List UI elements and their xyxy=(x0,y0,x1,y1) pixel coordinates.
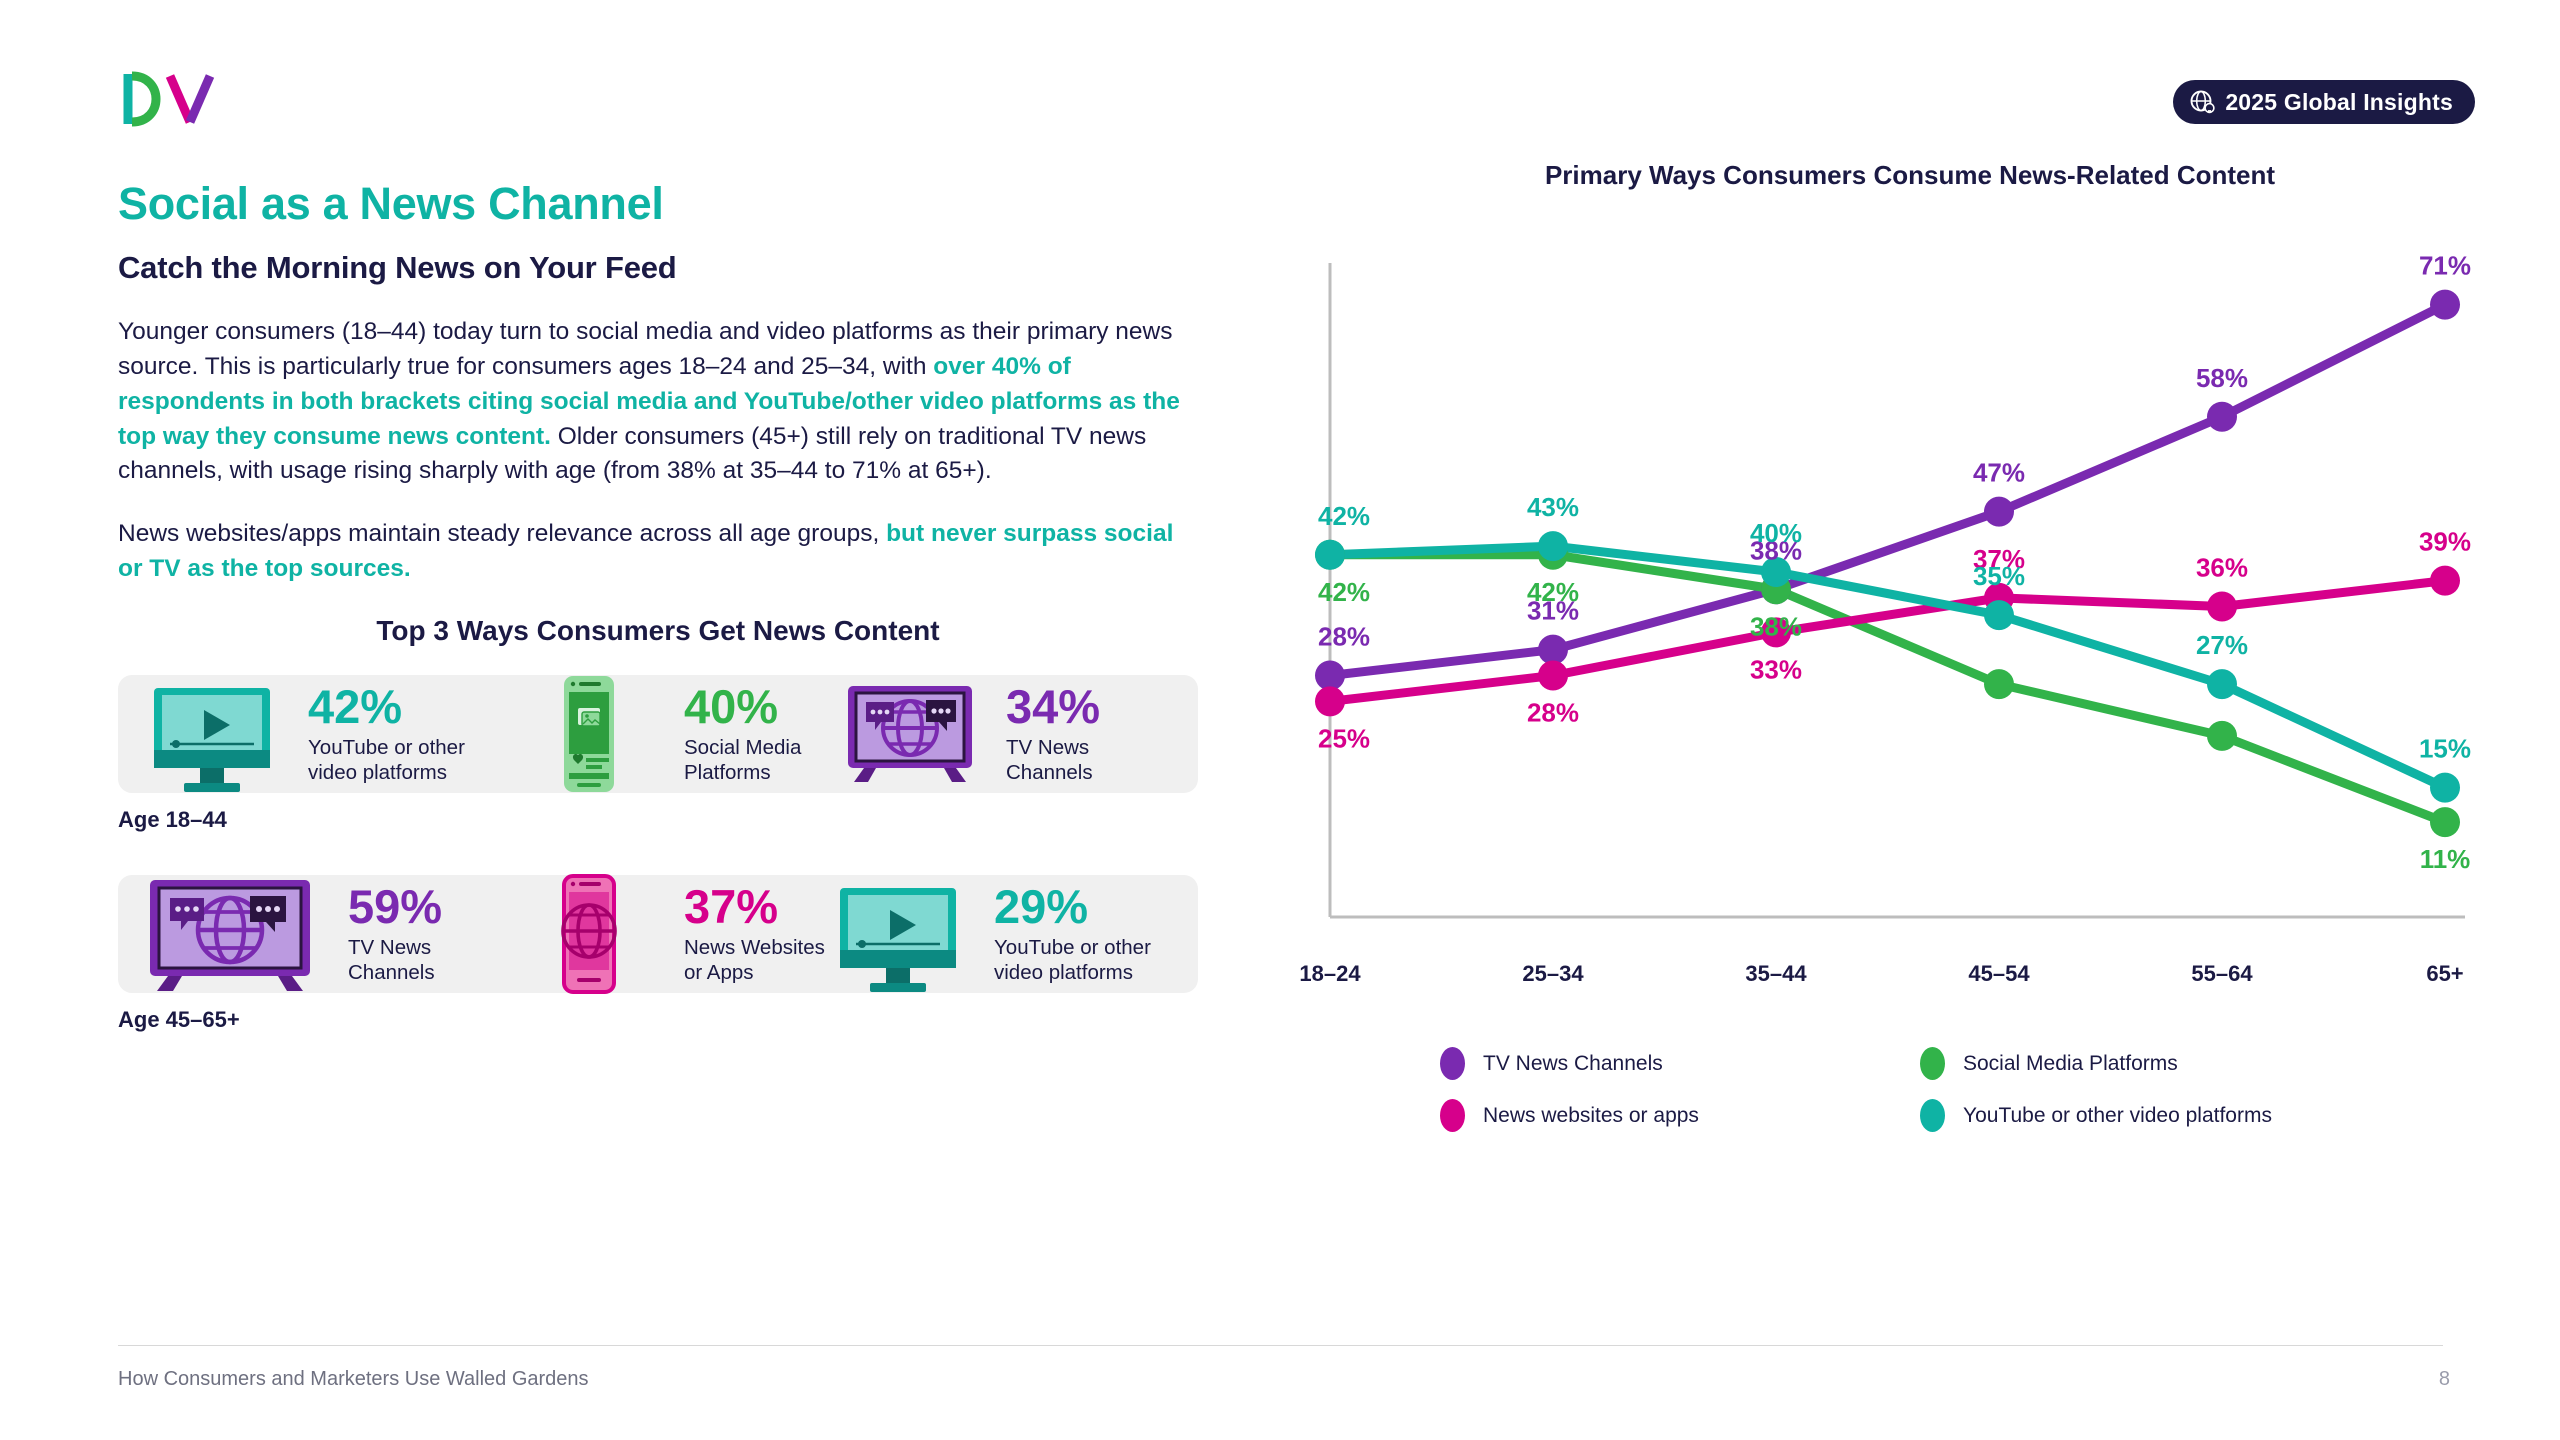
data-point-label: 28% xyxy=(1527,698,1579,728)
stat-card-5: 37% News Websites or Apps xyxy=(508,875,825,993)
monitor-play-icon xyxy=(818,852,978,1012)
data-point-label: 42% xyxy=(1318,577,1370,607)
cards-section-title: Top 3 Ways Consumers Get News Content xyxy=(118,615,1198,647)
legend-label: TV News Channels xyxy=(1483,1052,1663,1076)
data-point xyxy=(1538,635,1568,665)
phone-social-icon xyxy=(508,652,668,812)
paragraph-2: News websites/apps maintain steady relev… xyxy=(118,517,1188,587)
card-row-age-45-65: 59% TV News Channels xyxy=(118,875,1198,993)
legend-label: YouTube or other video platforms xyxy=(1963,1104,2272,1128)
globe-bulb-icon xyxy=(2189,89,2215,115)
stat-card-2-label: Social Media Platforms xyxy=(684,735,801,785)
chart-plot-area: 28%31%38%47%58%71%42%42%38%11%25%28%33%3… xyxy=(1310,197,2480,957)
data-point-label: 38% xyxy=(1750,611,1802,641)
data-point xyxy=(1315,686,1345,716)
legend-swatch-icon xyxy=(1440,1099,1465,1132)
data-point xyxy=(1984,600,2014,630)
x-axis-tick: 18–24 xyxy=(1299,961,1360,987)
data-point-label: 28% xyxy=(1318,622,1370,652)
data-point-label: 39% xyxy=(2419,527,2471,557)
data-point-label: 47% xyxy=(1973,458,2025,488)
stat-card-2-value: 40% xyxy=(684,683,801,730)
monitor-play-icon xyxy=(132,652,292,812)
data-point xyxy=(1538,661,1568,691)
legend-item[interactable]: YouTube or other video platforms xyxy=(1920,1099,2272,1132)
data-point xyxy=(1315,661,1345,691)
dv-logo xyxy=(118,68,228,130)
stat-card-6-label: YouTube or other video platforms xyxy=(994,935,1151,985)
data-point-label: 36% xyxy=(2196,553,2248,583)
data-point xyxy=(2430,566,2460,596)
stat-card-5-value: 37% xyxy=(684,883,825,930)
data-point xyxy=(2430,290,2460,320)
data-point-label: 58% xyxy=(2196,363,2248,393)
tv-globe-icon xyxy=(830,652,990,812)
x-axis-tick: 65+ xyxy=(2426,961,2463,987)
chart-title: Primary Ways Consumers Consume News-Rela… xyxy=(1500,160,2320,191)
stat-card-6-value: 29% xyxy=(994,883,1151,930)
stat-card-1-label: YouTube or other video platforms xyxy=(308,735,465,785)
data-point xyxy=(2207,402,2237,432)
data-point xyxy=(2207,669,2237,699)
data-point-label: 40% xyxy=(1750,518,1802,548)
data-point-label: 15% xyxy=(2419,734,2471,764)
chart-legend: TV News ChannelsSocial Media PlatformsNe… xyxy=(1310,1047,2480,1157)
data-point xyxy=(1984,497,2014,527)
page-subtitle: Catch the Morning News on Your Feed xyxy=(118,251,1198,285)
data-point-label: 71% xyxy=(2419,251,2471,281)
chart-x-axis: 18–2425–3435–4445–5455–6465+ xyxy=(1310,961,2480,1001)
stat-card-3-label: TV News Channels xyxy=(1006,735,1100,785)
stat-card-2: 40% Social Media Platforms xyxy=(508,675,801,793)
slide-page: 2025 Global Insights Social as a News Ch… xyxy=(0,0,2560,1440)
data-point-label: 33% xyxy=(1750,654,1802,684)
stat-card-2-text: 40% Social Media Platforms xyxy=(684,683,801,785)
x-axis-tick: 25–34 xyxy=(1522,961,1583,987)
stat-card-4: 59% TV News Channels xyxy=(132,875,442,993)
badge-label: 2025 Global Insights xyxy=(2225,89,2453,116)
data-point-label: 35% xyxy=(1973,561,2025,591)
stat-card-1: 42% YouTube or other video platforms xyxy=(132,675,465,793)
stat-card-1-text: 42% YouTube or other video platforms xyxy=(308,683,465,785)
global-insights-badge[interactable]: 2025 Global Insights xyxy=(2173,80,2475,124)
footer-divider xyxy=(118,1345,2443,1346)
data-point-label: 11% xyxy=(2420,844,2471,874)
stat-card-5-text: 37% News Websites or Apps xyxy=(684,883,825,985)
paragraph-2-part-a: News websites/apps maintain steady relev… xyxy=(118,520,886,547)
data-point xyxy=(2207,721,2237,751)
stat-card-3-value: 34% xyxy=(1006,683,1100,730)
tv-globe-icon xyxy=(132,852,332,1012)
line-chart-svg: 28%31%38%47%58%71%42%42%38%11%25%28%33%3… xyxy=(1310,197,2480,957)
stat-card-4-text: 59% TV News Channels xyxy=(348,883,442,985)
left-column: Social as a News Channel Catch the Morni… xyxy=(118,180,1198,1075)
data-point-label: 42% xyxy=(1527,577,1579,607)
x-axis-tick: 35–44 xyxy=(1745,961,1806,987)
legend-label: News websites or apps xyxy=(1483,1104,1699,1128)
stat-card-4-label: TV News Channels xyxy=(348,935,442,985)
legend-swatch-icon xyxy=(1920,1047,1945,1080)
data-point xyxy=(2430,807,2460,837)
legend-item[interactable]: News websites or apps xyxy=(1440,1099,1699,1132)
legend-swatch-icon xyxy=(1440,1047,1465,1080)
paragraph-1: Younger consumers (18–44) today turn to … xyxy=(118,315,1188,489)
footer-text: How Consumers and Marketers Use Walled G… xyxy=(118,1368,589,1391)
stat-card-6-text: 29% YouTube or other video platforms xyxy=(994,883,1151,985)
data-point xyxy=(2207,592,2237,622)
phone-globe-icon xyxy=(508,852,668,1012)
data-point-label: 42% xyxy=(1318,501,1370,531)
page-title: Social as a News Channel xyxy=(118,180,1198,227)
data-point-label: 43% xyxy=(1527,492,1579,522)
data-point-label: 25% xyxy=(1318,723,1370,753)
legend-label: Social Media Platforms xyxy=(1963,1052,2178,1076)
data-point xyxy=(2430,773,2460,803)
x-axis-tick: 55–64 xyxy=(2191,961,2252,987)
stat-card-1-value: 42% xyxy=(308,683,465,730)
card-row-age-18-44: 42% YouTube or other video platforms xyxy=(118,675,1198,793)
legend-item[interactable]: TV News Channels xyxy=(1440,1047,1663,1080)
data-point xyxy=(1315,540,1345,570)
data-point-label: 27% xyxy=(2196,630,2248,660)
data-point xyxy=(1538,531,1568,561)
stat-card-3-text: 34% TV News Channels xyxy=(1006,683,1100,785)
chart-panel: Primary Ways Consumers Consume News-Rela… xyxy=(1310,160,2480,1230)
stat-card-3: 34% TV News Channels xyxy=(830,675,1100,793)
data-point xyxy=(1984,669,2014,699)
legend-swatch-icon xyxy=(1920,1099,1945,1132)
stat-card-4-value: 59% xyxy=(348,883,442,930)
stat-card-6: 29% YouTube or other video platforms xyxy=(818,875,1151,993)
legend-item[interactable]: Social Media Platforms xyxy=(1920,1047,2178,1080)
stat-card-5-label: News Websites or Apps xyxy=(684,935,825,985)
x-axis-tick: 45–54 xyxy=(1968,961,2029,987)
footer-page-number: 8 xyxy=(2439,1368,2450,1391)
